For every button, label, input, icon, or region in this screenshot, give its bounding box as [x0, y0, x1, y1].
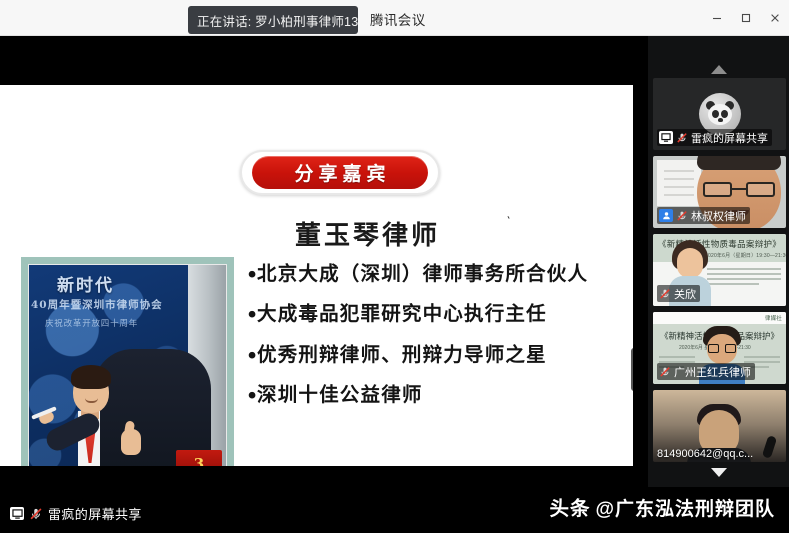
slide-banner-pill: 分享嘉宾: [252, 156, 428, 189]
list-item: • 深圳十佳公益律师: [246, 384, 626, 406]
list-item-label: 深圳十佳公益律师: [257, 384, 423, 406]
backdrop-title: 新时代: [57, 271, 227, 296]
person-suit: [93, 349, 211, 466]
bullet-icon: •: [246, 344, 257, 366]
window-titlebar: 正在讲话: 罗小柏刑事律师1392... 腾讯会议: [0, 0, 789, 36]
tile-slide-logo: 律媒社: [765, 314, 782, 322]
participant-tile-wanghongbing[interactable]: 律媒社 《新精神活性物质毒品案辩护》 2020年6月 星期日 19:30—21:…: [653, 312, 786, 384]
user-icon: [659, 209, 673, 222]
self-share-label: 雷疯的屏幕共享: [48, 504, 142, 523]
watermark-brand: 头条: [549, 492, 590, 521]
guest-photo-frame: 新时代 40周年暨深圳市律师协会 庆祝改革开放四十周年 3: [21, 257, 234, 466]
cursor-mark-icon: ˋ: [503, 214, 516, 230]
list-item-label: 优秀刑辩律师、刑辩力导师之星: [257, 344, 547, 366]
participant-name-label: 关欣: [674, 286, 696, 302]
participant-name-chip: 广州王红兵律师: [657, 363, 755, 380]
participant-tile-lin[interactable]: 林叔权律师: [653, 156, 786, 228]
guest-photo: 新时代 40周年暨深圳市律师协会 庆祝改革开放四十周年 3: [28, 264, 227, 466]
maximize-icon[interactable]: [731, 0, 760, 36]
slide-banner: 分享嘉宾: [240, 150, 440, 195]
list-item-label: 大成毒品犯罪研究中心执行主任: [257, 303, 547, 325]
window-controls: [702, 0, 789, 36]
list-item: • 优秀刑辩律师、刑辩力导师之星: [246, 344, 626, 366]
minimize-icon[interactable]: [702, 0, 731, 36]
backdrop-subtitle: 40周年暨深圳市律师协会: [31, 297, 226, 312]
mic-muted-icon: [676, 132, 688, 144]
participant-name-chip: 雷疯的屏幕共享: [657, 129, 772, 146]
participant-name-label: 雷疯的屏幕共享: [691, 130, 768, 146]
participant-name-chip: 关欣: [657, 285, 700, 302]
participant-tiles: 雷疯的屏幕共享 林叔权律师: [653, 78, 786, 468]
scroll-down-icon[interactable]: [648, 461, 789, 483]
photo-logo: 3: [176, 450, 222, 466]
participant-name-label: 广州王红兵律师: [674, 364, 751, 380]
mic-muted-icon: [659, 288, 671, 300]
list-item-label: 北京大成（深圳）律师事务所合伙人: [257, 263, 588, 285]
tencent-meeting-window: 正在讲话: 罗小柏刑事律师1392... 腾讯会议 分享嘉宾 董玉琴律师: [0, 0, 789, 533]
panda-nose: [718, 118, 723, 122]
screen-share-icon: [10, 507, 24, 520]
watermark: 头条 @广东泓法刑辩团队: [549, 492, 775, 521]
mic-muted-icon: [659, 366, 671, 378]
speaking-indicator-badge: 正在讲话: 罗小柏刑事律师1392...: [188, 6, 358, 34]
participant-sidebar: 雷疯的屏幕共享 林叔权律师: [648, 36, 789, 487]
participant-name-label: 814900642@qq.c...: [657, 448, 753, 460]
participant-tile-qq-user[interactable]: 814900642@qq.c...: [653, 390, 786, 462]
slide-banner-text: 分享嘉宾: [289, 159, 390, 186]
bullet-icon: •: [246, 384, 257, 406]
tile-slide-subtitle: 2020年6月（星期日）19:30—21:30: [705, 252, 786, 259]
watermark-handle: @广东泓法刑辩团队: [595, 494, 775, 521]
bullet-icon: •: [246, 263, 257, 285]
mic-muted-icon: [676, 210, 688, 222]
mic-muted-icon: [29, 507, 43, 521]
close-icon[interactable]: [760, 0, 789, 36]
sidebar-collapse-handle[interactable]: ›: [631, 348, 633, 391]
shared-screen-slide: 分享嘉宾 董玉琴律师 ˋ • 北京大成（深圳）律师事务所合伙人 • 大成毒品犯罪…: [0, 85, 633, 466]
bullet-icon: •: [246, 303, 257, 325]
self-share-strip: 雷疯的屏幕共享: [0, 494, 633, 533]
list-item: • 大成毒品犯罪研究中心执行主任: [246, 303, 626, 325]
scroll-up-icon[interactable]: [648, 58, 789, 80]
guest-credentials-list: • 北京大成（深圳）律师事务所合伙人 • 大成毒品犯罪研究中心执行主任 • 优秀…: [246, 263, 626, 425]
glasses-icon: [708, 344, 736, 353]
participant-hair: [697, 156, 781, 170]
participant-tile-guanxin[interactable]: 《新精神活性物质毒品案辩护》 2020年6月（星期日）19:30—21:30 关…: [653, 234, 786, 306]
glasses-icon: [703, 182, 775, 197]
speaking-indicator-label: 正在讲话: 罗小柏刑事律师1392...: [197, 11, 358, 30]
backdrop-subtitle-2: 庆祝改革开放四十周年: [45, 317, 227, 329]
guest-name: 董玉琴律师: [295, 215, 440, 252]
list-item: • 北京大成（深圳）律师事务所合伙人: [246, 263, 626, 285]
person-hair: [71, 365, 111, 389]
screen-share-icon: [659, 131, 673, 144]
panda-eye-left: [712, 110, 719, 118]
background-paper: [657, 160, 701, 206]
participant-name-label: 林叔权律师: [691, 208, 746, 224]
microphone-prop-icon: [762, 435, 777, 459]
app-title: 腾讯会议: [370, 9, 426, 29]
panda-eye-right: [721, 110, 728, 118]
participant-tile-screen-share[interactable]: 雷疯的屏幕共享: [653, 78, 786, 150]
participant-name-chip: 林叔权律师: [657, 207, 750, 224]
